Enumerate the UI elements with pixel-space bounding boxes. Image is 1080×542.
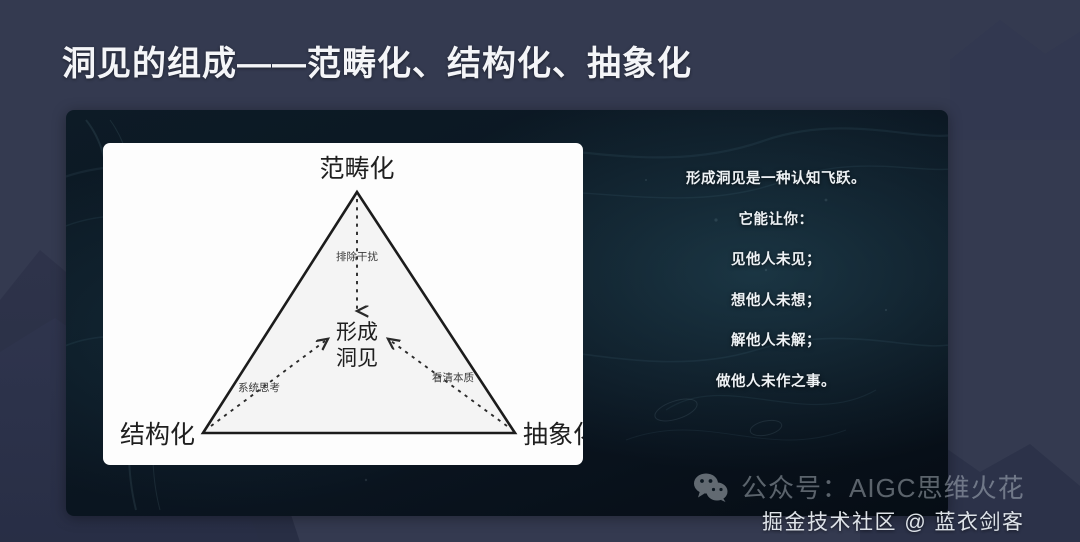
vertex-label-bottom-left: 结构化 (120, 421, 195, 449)
quote-line: 形成洞见是一种认知飞跃。 (626, 172, 926, 187)
center-label-line2: 洞见 (336, 347, 378, 370)
content-panel: 范畴化 结构化 抽象化 形成 洞见 排除干扰 系统思考 看清本质 形成洞见是一种… (66, 110, 948, 516)
quote-line: 它能让你： (626, 213, 926, 228)
edge-label-right: 看清本质 (432, 371, 474, 384)
diagram-card: 范畴化 结构化 抽象化 形成 洞见 排除干扰 系统思考 看清本质 (103, 143, 583, 465)
vertex-label-top: 范畴化 (319, 155, 394, 183)
quote-line: 做他人未作之事。 (626, 375, 926, 390)
insight-triangle-diagram: 范畴化 结构化 抽象化 形成 洞见 排除干扰 系统思考 看清本质 (103, 143, 583, 465)
vertex-label-bottom-right: 抽象化 (523, 421, 583, 449)
center-label-line1: 形成 (336, 321, 378, 344)
page-title: 洞见的组成——范畴化、结构化、抽象化 (62, 36, 692, 85)
quote-line: 见他人未见； (626, 253, 926, 268)
quote-block: 形成洞见是一种认知飞跃。 它能让你： 见他人未见； 想他人未想； 解他人未解； … (626, 172, 926, 389)
edge-label-top: 排除干扰 (336, 250, 378, 263)
quote-line: 解他人未解； (626, 334, 926, 349)
slide-canvas: 洞见的组成——范畴化、结构化、抽象化 (0, 0, 1080, 542)
edge-label-left: 系统思考 (238, 381, 280, 394)
quote-line: 想他人未想； (626, 294, 926, 309)
triangle-shape (203, 192, 515, 433)
